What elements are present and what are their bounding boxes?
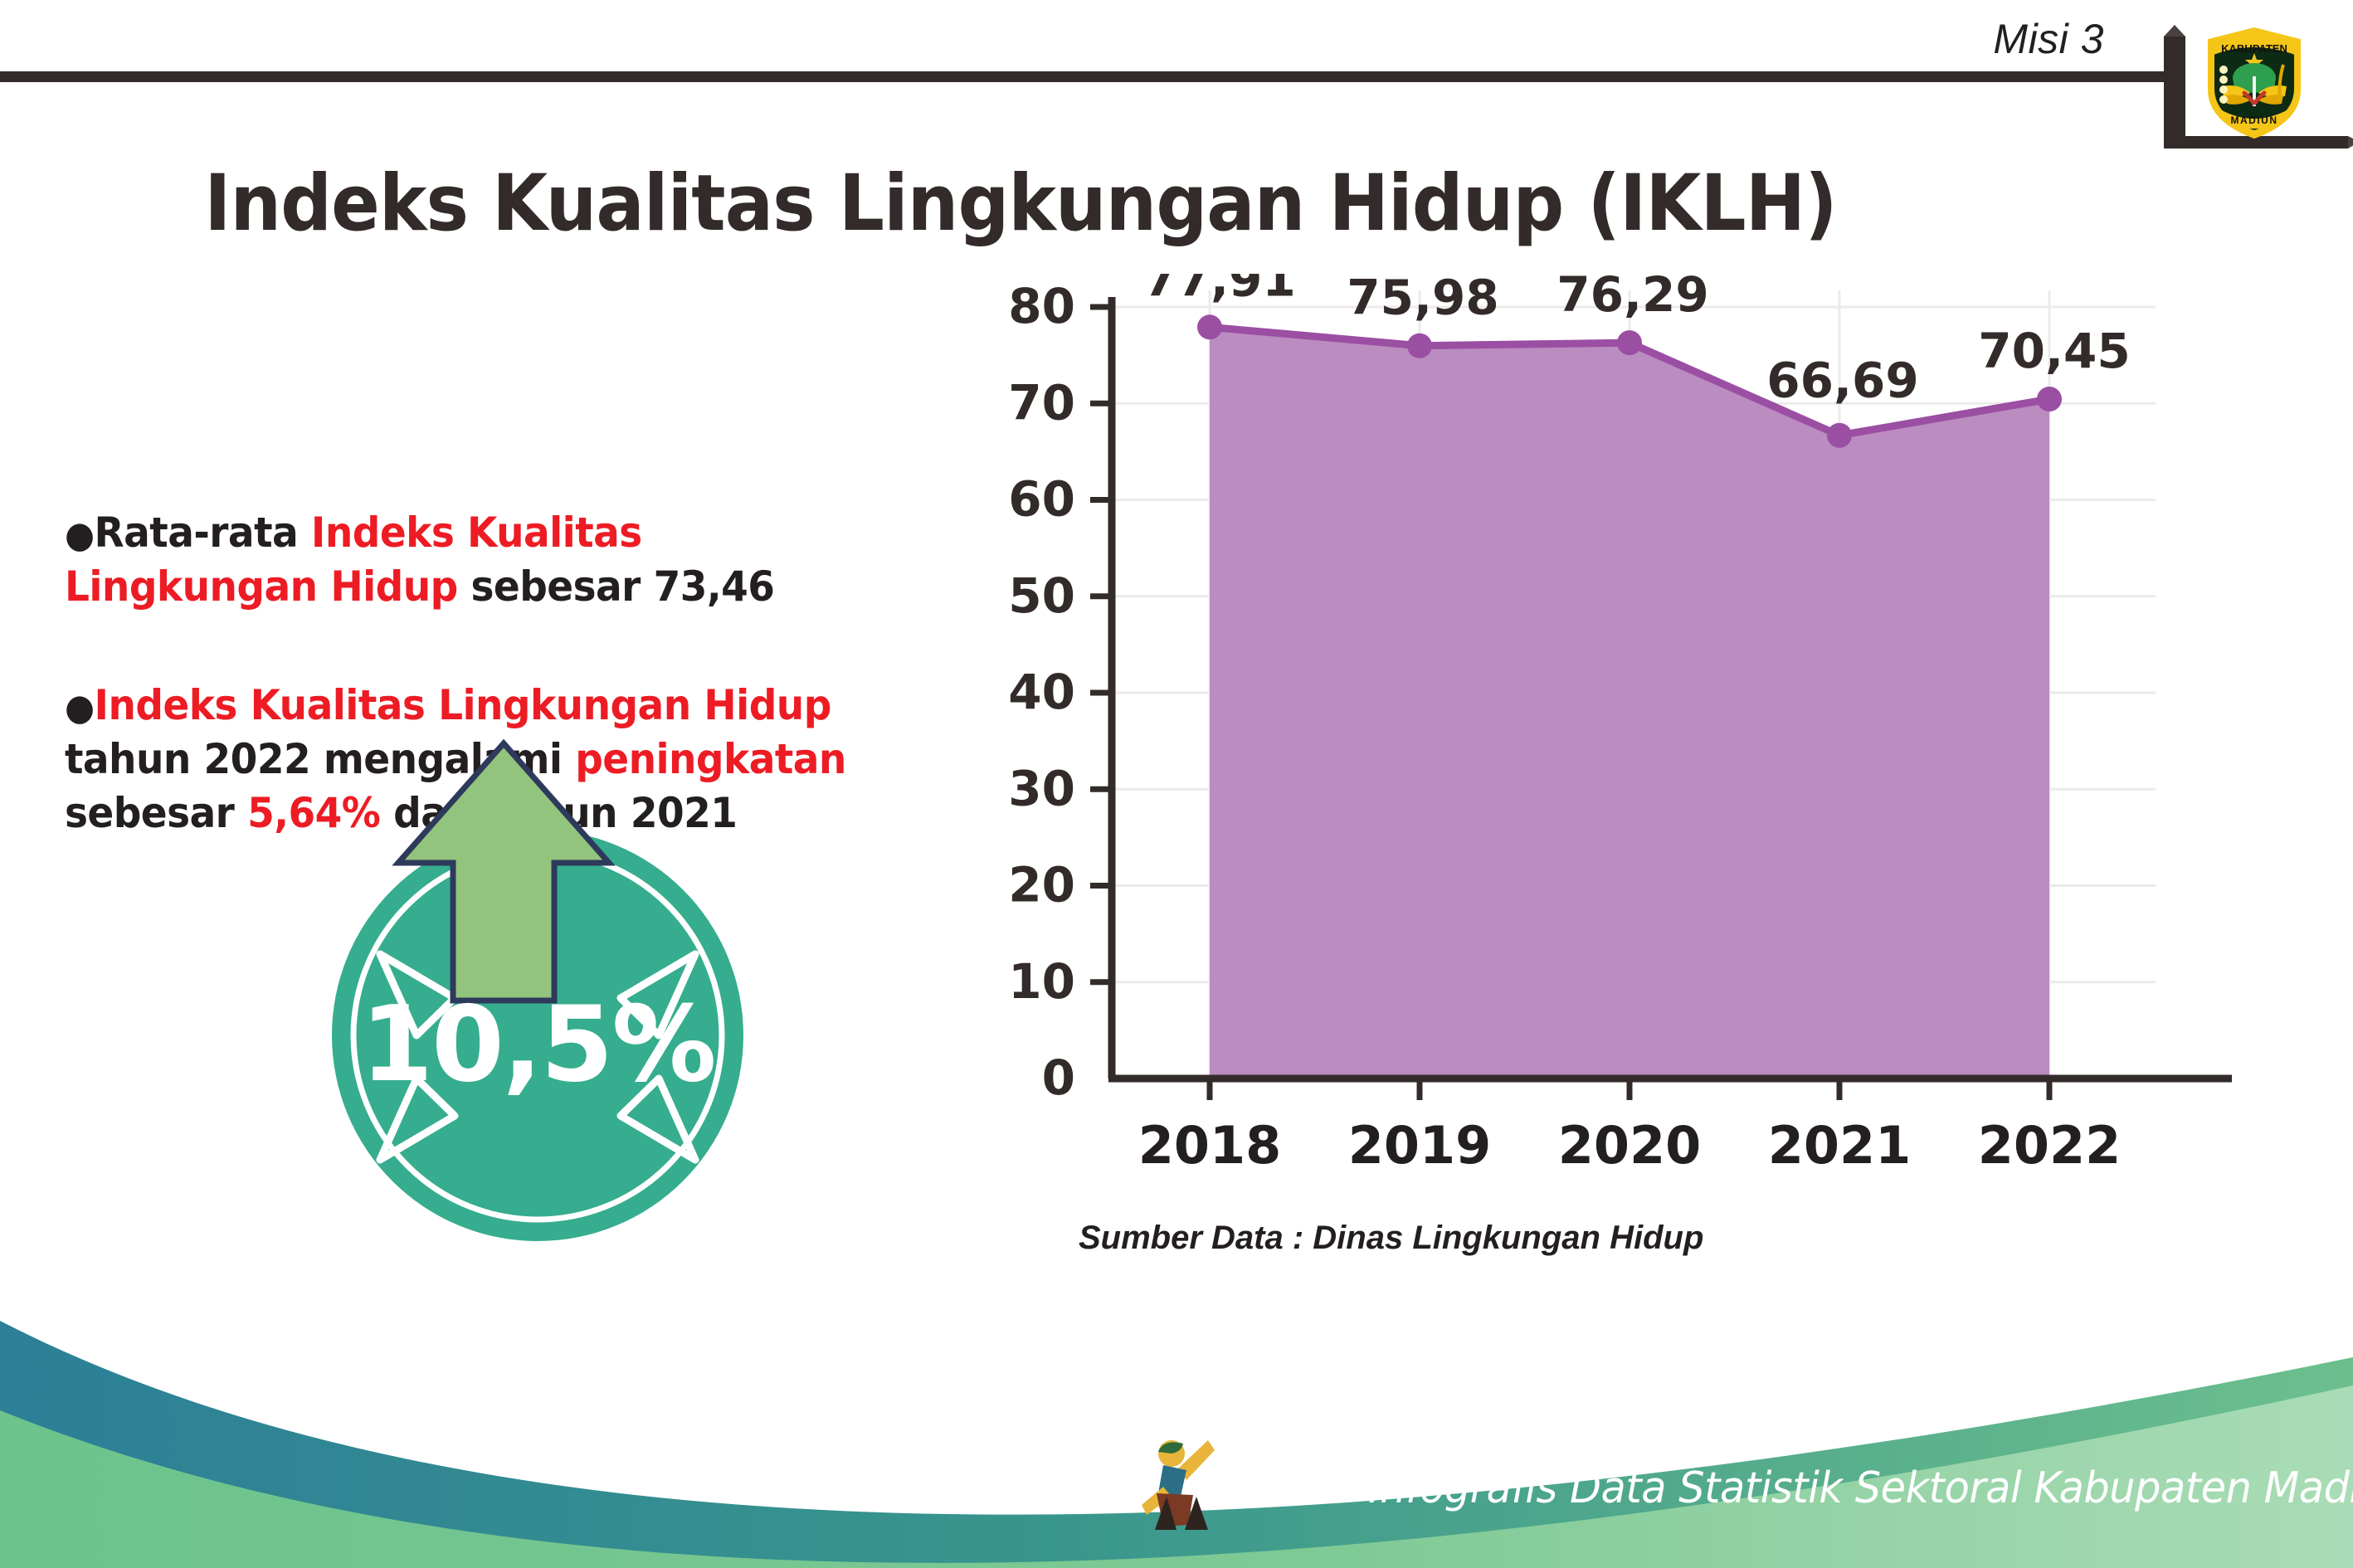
chart-data-label: 75,98 xyxy=(1347,274,1498,326)
footer-caption: Media Infografis Data Statistik Sektoral… xyxy=(1235,1463,2353,1513)
bullet-2-seg-3: peningkatan xyxy=(575,735,846,783)
page-title: Indeks Kualitas Lingkungan Hidup (IKLH) xyxy=(81,158,1959,249)
chart-x-label: 2020 xyxy=(1558,1115,1702,1176)
bullet-1-seg-3: sebesar 73,46 xyxy=(458,562,775,611)
chart-area-fill xyxy=(1210,327,2049,1079)
bullet-dot-icon: ● xyxy=(65,514,95,557)
chart-y-label: 20 xyxy=(1008,857,1075,913)
chart-y-label: 70 xyxy=(1008,374,1075,431)
chart-data-label: 70,45 xyxy=(1978,323,2130,379)
chart-data-label: 76,29 xyxy=(1556,274,1708,323)
svg-text:MADIUN: MADIUN xyxy=(2231,114,2278,126)
chart-x-label: 2022 xyxy=(1978,1115,2122,1176)
badge-value-label: 10,5% xyxy=(330,983,745,1105)
bullet-2-seg-1: Indeks Kualitas Lingkungan Hidup xyxy=(95,681,831,729)
chart-y-label: 40 xyxy=(1008,664,1075,720)
chart-source-note: Sumber Data : Dinas Lingkungan Hidup xyxy=(1079,1220,1703,1257)
chart-x-label: 2021 xyxy=(1768,1115,1912,1176)
chart-y-label: 0 xyxy=(1042,1049,1075,1106)
chart-y-label: 30 xyxy=(1008,760,1075,816)
misi-label: Misi 3 xyxy=(1993,15,2104,63)
up-arrow-icon xyxy=(392,737,616,1010)
kabupaten-madiun-crest-icon: KABUPATEN MADIUN xyxy=(2200,17,2308,141)
media-infografis-figure-icon xyxy=(1138,1429,1225,1536)
chart-y-label: 80 xyxy=(1008,278,1075,334)
header-divider-rule xyxy=(0,71,2180,82)
chart-x-axis-labels: 20182019202020212022 xyxy=(1138,1115,2122,1176)
chart-data-label: 77,91 xyxy=(1143,274,1295,307)
bullet-dot-icon: ● xyxy=(65,687,95,729)
iklh-area-chart: 01020304050607080 20182019202020212022 7… xyxy=(954,274,2315,1203)
chart-y-label: 60 xyxy=(1008,471,1075,528)
chart-x-label: 2019 xyxy=(1348,1115,1492,1176)
chart-y-label: 50 xyxy=(1008,567,1075,624)
chart-y-axis-labels: 01020304050607080 xyxy=(1008,278,1075,1106)
svg-text:KABUPATEN: KABUPATEN xyxy=(2221,42,2287,55)
bullet-1-seg-1: Rata-rata xyxy=(95,509,311,557)
bullet-2-seg-4: sebesar xyxy=(65,789,247,837)
chart-x-label: 2018 xyxy=(1138,1115,1282,1176)
chart-y-label: 10 xyxy=(1008,953,1075,1010)
bullet-item-average: ●Rata-rata Indeks Kualitas Lingkungan Hi… xyxy=(65,506,907,614)
chart-data-label: 66,69 xyxy=(1766,353,1918,409)
logo-bracket-vertical xyxy=(2164,37,2185,148)
